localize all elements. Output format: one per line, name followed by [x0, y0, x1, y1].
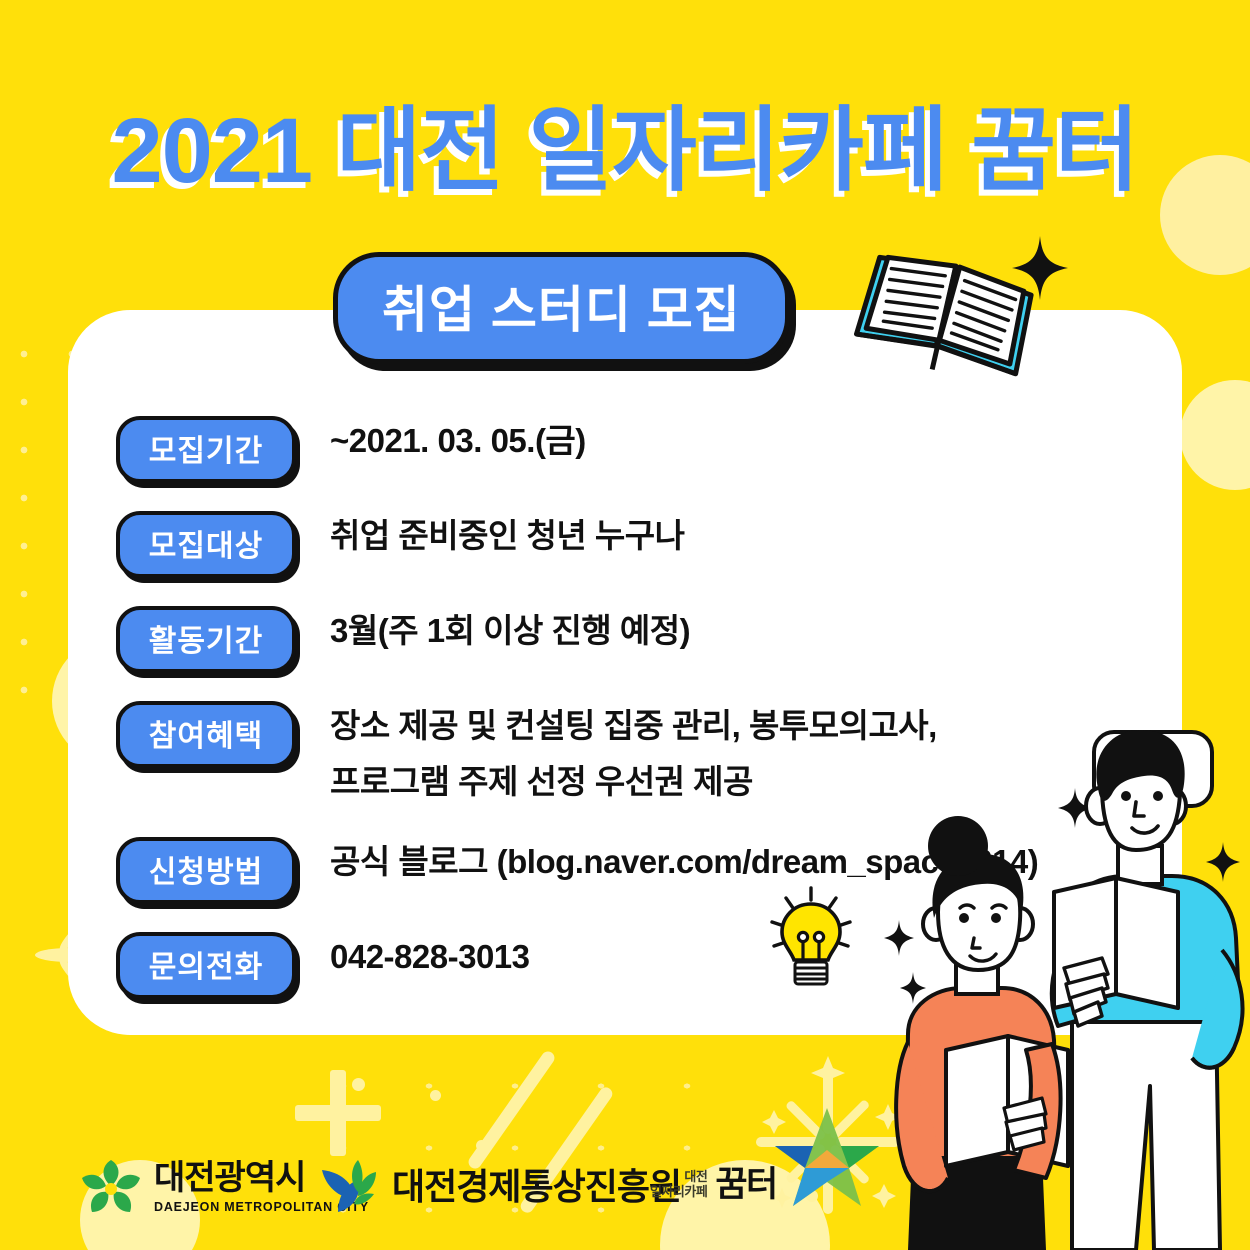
logo-kkumteo: 대전 일자리카페 꿈터 [650, 1154, 883, 1214]
info-label-badge: 문의전화 [116, 932, 296, 999]
sparkle-icon [1012, 236, 1068, 300]
info-value: 042-828-3013 [330, 932, 530, 978]
decor-plus-icon [330, 1070, 346, 1156]
decor-dot [352, 1078, 365, 1091]
info-value: 취업 준비중인 청년 누구나 [330, 511, 684, 557]
kkumteo-star-mark [771, 1102, 883, 1214]
info-value-line: 3월(주 1회 이상 진행 예정) [330, 612, 690, 649]
headline-badge-label: 취업 스터디 모집 [382, 270, 741, 342]
djbea-leaf-mark [318, 1158, 380, 1216]
info-label-badge: 모집기간 [116, 416, 296, 483]
info-value-line: 042-828-3013 [330, 938, 530, 975]
info-row: 활동기간 3월(주 1회 이상 진행 예정) [116, 606, 1116, 673]
info-value: 3월(주 1회 이상 진행 예정) [330, 606, 690, 652]
info-value-line: 취업 준비중인 청년 누구나 [330, 517, 684, 554]
info-row: 모집기간 ~2021. 03. 05.(금) [116, 416, 1116, 483]
headline-badge: 취업 스터디 모집 [333, 252, 790, 364]
page-title: 2021 대전 일자리카페 꿈터 [0, 76, 1250, 209]
logo-kkumteo-name-kr: 꿈터 [715, 1167, 776, 1202]
info-label-badge: 모집대상 [116, 511, 296, 578]
info-value: ~2021. 03. 05.(금) [330, 416, 586, 462]
lightbulb-icon [766, 884, 856, 994]
footer-logos: 대전광역시 DAEJEON METROPOLITAN CITY 대전경제통상진흥… [0, 1150, 1250, 1240]
info-value-line: ~2021. 03. 05.(금) [330, 422, 586, 459]
info-label-badge: 신청방법 [116, 837, 296, 904]
logo-djbea: 대전경제통상진흥원 [318, 1158, 681, 1216]
logo-kkumteo-sub2: 일자리카페 [650, 1184, 707, 1199]
info-row: 모집대상 취업 준비중인 청년 누구나 [116, 511, 1116, 578]
info-value-line: 장소 제공 및 컨설팅 집중 관리, 봉투모의고사, [330, 707, 937, 744]
decor-circle [1180, 380, 1250, 490]
info-label-badge: 참여혜택 [116, 701, 296, 768]
info-label-badge: 활동기간 [116, 606, 296, 673]
decor-dot [430, 1090, 441, 1101]
daejeon-pinwheel-mark [78, 1156, 144, 1218]
logo-djbea-name-kr: 대전경제통상진흥원 [392, 1169, 681, 1205]
info-value-line-2: 프로그램 주제 선정 우선권 제공 [330, 761, 937, 803]
info-value: 장소 제공 및 컨설팅 집중 관리, 봉투모의고사, 프로그램 주제 선정 우선… [330, 701, 937, 803]
decor-plus-icon [295, 1105, 381, 1121]
logo-kkumteo-sub1: 대전 [650, 1169, 707, 1184]
poster-canvas: 2021 대전 일자리카페 꿈터 취업 스터디 모집 [0, 0, 1250, 1250]
